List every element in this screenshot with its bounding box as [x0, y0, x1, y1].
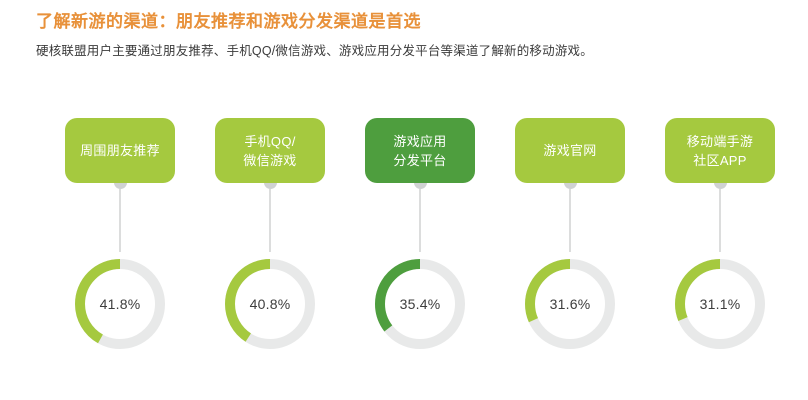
connector-line: [269, 189, 271, 252]
page-subtitle: 硬核联盟用户主要通过朋友推荐、手机QQ/微信游戏、游戏应用分发平台等渠道了解新的…: [36, 41, 776, 61]
donut-value-label: 40.8%: [220, 254, 320, 354]
channel-box-game-app-distribution-platform[interactable]: 游戏应用分发平台: [365, 118, 475, 183]
donut-chart-game-official-website: 31.6%: [520, 254, 620, 354]
channel-label-line: 周围朋友推荐: [80, 141, 160, 160]
channel-box-label: 移动端手游社区APP: [687, 132, 754, 170]
channel-label-line: 分发平台: [393, 151, 446, 170]
donut-chart-mobile-qq-wechat-games: 40.8%: [220, 254, 320, 354]
connector: [563, 176, 577, 252]
channel-column: 手机QQ/微信游戏40.8%: [195, 118, 345, 354]
donut-chart-game-app-distribution-platform: 35.4%: [370, 254, 470, 354]
channel-columns: 周围朋友推荐41.8%手机QQ/微信游戏40.8%游戏应用分发平台35.4%游戏…: [0, 118, 808, 378]
page-title: 了解新游的渠道：朋友推荐和游戏分发渠道是首选: [36, 10, 776, 34]
channel-column: 周围朋友推荐41.8%: [45, 118, 195, 354]
channel-column: 游戏官网31.6%: [495, 118, 645, 354]
channel-box-label: 周围朋友推荐: [80, 141, 160, 160]
connector: [263, 176, 277, 252]
connector: [113, 176, 127, 252]
donut-value-label: 35.4%: [370, 254, 470, 354]
connector-line: [569, 189, 571, 252]
donut-value-label: 41.8%: [70, 254, 170, 354]
channel-box-friend-recommendation[interactable]: 周围朋友推荐: [65, 118, 175, 183]
donut-chart-mobile-game-community-app: 31.1%: [670, 254, 770, 354]
channel-box-label: 游戏应用分发平台: [393, 132, 446, 170]
channel-box-mobile-game-community-app[interactable]: 移动端手游社区APP: [665, 118, 775, 183]
channel-box-label: 手机QQ/微信游戏: [243, 132, 296, 170]
channel-box-game-official-website[interactable]: 游戏官网: [515, 118, 625, 183]
connector: [713, 176, 727, 252]
connector-line: [419, 189, 421, 252]
channel-label-line: 移动端手游: [687, 132, 754, 151]
channel-column: 移动端手游社区APP31.1%: [645, 118, 795, 354]
channel-label-line: 游戏应用: [393, 132, 446, 151]
channel-box-mobile-qq-wechat-games[interactable]: 手机QQ/微信游戏: [215, 118, 325, 183]
channel-label-line: 手机QQ/: [243, 132, 296, 151]
channel-label-line: 微信游戏: [243, 151, 296, 170]
channel-label-line: 游戏官网: [543, 141, 596, 160]
donut-chart-friend-recommendation: 41.8%: [70, 254, 170, 354]
donut-value-label: 31.1%: [670, 254, 770, 354]
infographic-root: 了解新游的渠道：朋友推荐和游戏分发渠道是首选 硬核联盟用户主要通过朋友推荐、手机…: [0, 0, 808, 400]
connector-line: [119, 189, 121, 252]
connector-line: [719, 189, 721, 252]
channel-label-line: 社区APP: [687, 151, 754, 170]
channel-box-label: 游戏官网: [543, 141, 596, 160]
channel-column: 游戏应用分发平台35.4%: [345, 118, 495, 354]
donut-value-label: 31.6%: [520, 254, 620, 354]
connector: [413, 176, 427, 252]
header: 了解新游的渠道：朋友推荐和游戏分发渠道是首选 硬核联盟用户主要通过朋友推荐、手机…: [36, 10, 776, 61]
